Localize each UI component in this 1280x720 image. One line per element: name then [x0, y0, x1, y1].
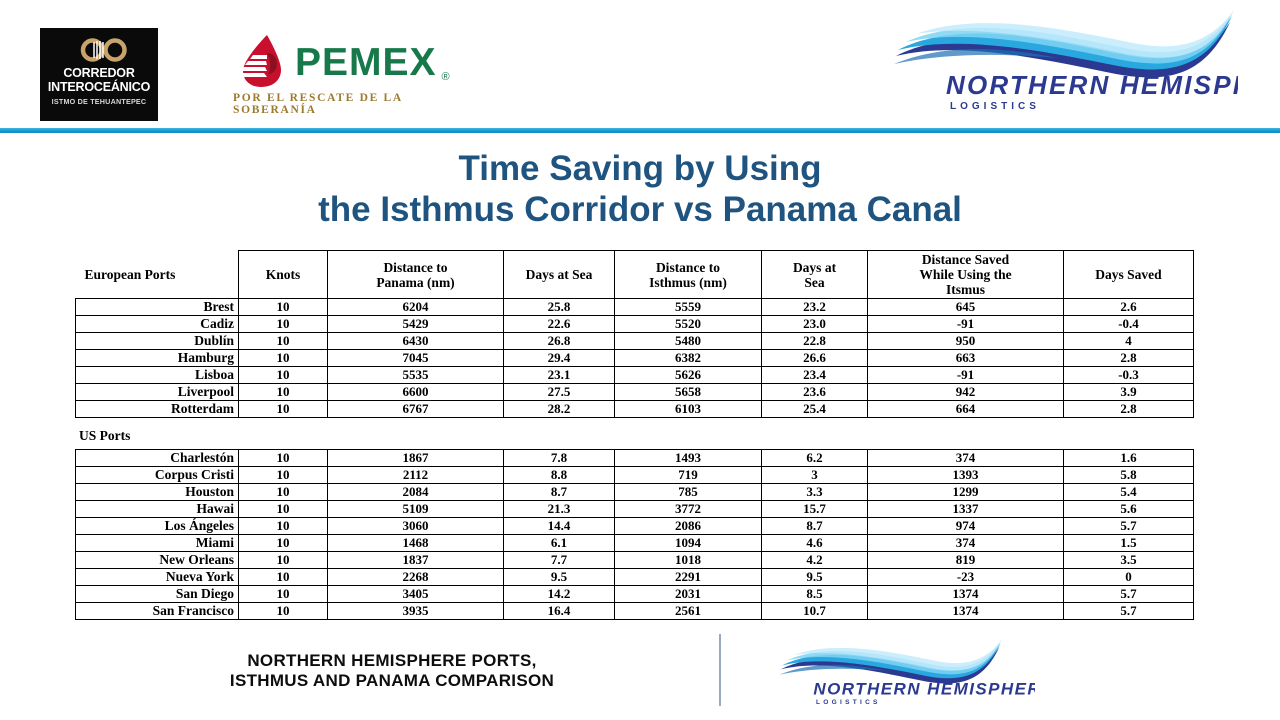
cell-value: 1018	[615, 552, 762, 569]
cell-value: 10	[239, 603, 328, 620]
cell-value: 3	[762, 467, 868, 484]
cell-value: 26.6	[762, 350, 868, 367]
cell-value: 785	[615, 484, 762, 501]
table-row: Nueva York1022689.522919.5-230	[76, 569, 1194, 586]
cell-value: -0.3	[1064, 367, 1194, 384]
page-title-line2: the Isthmus Corridor vs Panama Canal	[0, 189, 1280, 230]
cell-value: 10	[239, 316, 328, 333]
cell-value: 27.5	[504, 384, 615, 401]
cell-value: 10	[239, 518, 328, 535]
cell-value: 26.8	[504, 333, 615, 350]
cell-value: 5.7	[1064, 586, 1194, 603]
cell-value: 3.3	[762, 484, 868, 501]
cell-value: 23.0	[762, 316, 868, 333]
cell-value: 6.1	[504, 535, 615, 552]
table-row: Liverpool10660027.5565823.69423.9	[76, 384, 1194, 401]
cell-value: 6382	[615, 350, 762, 367]
cell-value: 1299	[868, 484, 1064, 501]
cell-value: 21.3	[504, 501, 615, 518]
cell-value: 1.6	[1064, 450, 1194, 467]
table-row: Dublín10643026.8548022.89504	[76, 333, 1194, 350]
corredor-logo-line3: ISTMO DE TEHUANTEPEC	[52, 97, 147, 106]
cell-port-name: Hawai	[76, 501, 239, 518]
cell-value: 10	[239, 350, 328, 367]
cell-value: 819	[868, 552, 1064, 569]
cell-value: 663	[868, 350, 1064, 367]
page-title: Time Saving by Using the Isthmus Corrido…	[0, 148, 1280, 230]
corredor-logo-line2: INTEROCEÁNICO	[48, 81, 150, 95]
cell-value: 3060	[328, 518, 504, 535]
cell-port-name: Brest	[76, 299, 239, 316]
table-row: Hawai10510921.3377215.713375.6	[76, 501, 1194, 518]
cell-value: 2291	[615, 569, 762, 586]
us-ports-table-wrapper: Charlestón1018677.814936.23741.6Corpus C…	[75, 449, 1193, 620]
table-row: Corpus Cristi1021128.8719313935.8	[76, 467, 1194, 484]
cell-value: 10	[239, 333, 328, 350]
cell-value: 5.8	[1064, 467, 1194, 484]
cell-value: 10	[239, 535, 328, 552]
cell-value: 10	[239, 484, 328, 501]
cell-value: 6.2	[762, 450, 868, 467]
cell-value: -91	[868, 316, 1064, 333]
cell-value: 14.4	[504, 518, 615, 535]
us-ports-table: Charlestón1018677.814936.23741.6Corpus C…	[75, 449, 1194, 620]
pemex-registered-mark: ®	[442, 71, 450, 89]
column-header-distance-isthmus: Distance toIsthmus (nm)	[615, 251, 762, 299]
cell-value: 10	[239, 586, 328, 603]
cell-value: 6204	[328, 299, 504, 316]
cell-value: 2561	[615, 603, 762, 620]
cell-value: 5429	[328, 316, 504, 333]
cell-value: 23.4	[762, 367, 868, 384]
table-header-row: European Ports Knots Distance toPanama (…	[76, 251, 1194, 299]
cell-value: 374	[868, 450, 1064, 467]
cell-value: 15.7	[762, 501, 868, 518]
cell-port-name: Nueva York	[76, 569, 239, 586]
slide-header: CORREDOR INTEROCEÁNICO ISTMO DE TEHUANTE…	[0, 0, 1280, 128]
table-row: Los Ángeles10306014.420868.79745.7	[76, 518, 1194, 535]
cell-value: 22.6	[504, 316, 615, 333]
svg-text:NORTHERN HEMISPHERE: NORTHERN HEMISPHERE	[813, 679, 1035, 698]
cell-value: 3935	[328, 603, 504, 620]
cell-value: 10	[239, 569, 328, 586]
cell-port-name: Rotterdam	[76, 401, 239, 418]
column-header-knots: Knots	[239, 251, 328, 299]
cell-value: 3.5	[1064, 552, 1194, 569]
cell-value: 23.6	[762, 384, 868, 401]
cell-value: 8.7	[504, 484, 615, 501]
cell-value: 25.8	[504, 299, 615, 316]
corredor-infinity-mark-icon	[69, 37, 129, 63]
cell-value: 1468	[328, 535, 504, 552]
cell-value: 10	[239, 367, 328, 384]
cell-value: 9.5	[504, 569, 615, 586]
footer-divider	[719, 634, 721, 706]
swoosh-waves-icon: NORTHERN HEMISPHERE LOGISTICS	[745, 697, 1035, 714]
cell-value: 4	[1064, 333, 1194, 350]
cell-value: 664	[868, 401, 1064, 418]
cell-value: -91	[868, 367, 1064, 384]
cell-value: 2084	[328, 484, 504, 501]
svg-text:LOGISTICS: LOGISTICS	[950, 101, 1040, 112]
cell-value: 7045	[328, 350, 504, 367]
cell-value: 1094	[615, 535, 762, 552]
cell-value: 23.2	[762, 299, 868, 316]
table-header: European Ports Knots Distance toPanama (…	[76, 251, 1194, 299]
pemex-tagline: POR EL RESCATE DE LA SOBERANÍA	[233, 92, 465, 116]
table-row: San Diego10340514.220318.513745.7	[76, 586, 1194, 603]
cell-value: 8.8	[504, 467, 615, 484]
cell-value: 1867	[328, 450, 504, 467]
cell-value: 28.2	[504, 401, 615, 418]
cell-value: 719	[615, 467, 762, 484]
cell-value: 9.5	[762, 569, 868, 586]
cell-value: 2268	[328, 569, 504, 586]
european-ports-table-wrapper: European Ports Knots Distance toPanama (…	[75, 250, 1193, 418]
cell-value: 25.4	[762, 401, 868, 418]
column-header-european-ports: European Ports	[76, 251, 239, 299]
table-row: Lisboa10553523.1562623.4-91-0.3	[76, 367, 1194, 384]
cell-port-name: Cadiz	[76, 316, 239, 333]
cell-port-name: Charlestón	[76, 450, 239, 467]
cell-value: 3772	[615, 501, 762, 518]
cell-port-name: Miami	[76, 535, 239, 552]
table-row: Rotterdam10676728.2610325.46642.8	[76, 401, 1194, 418]
cell-value: 3.9	[1064, 384, 1194, 401]
footer-caption-line2: ISTHMUS AND PANAMA COMPARISON	[152, 671, 632, 691]
cell-value: 942	[868, 384, 1064, 401]
pemex-logo: PEMEX ® POR EL RESCATE DE LA SOBERANÍA	[233, 37, 465, 115]
corredor-interoceanico-logo: CORREDOR INTEROCEÁNICO ISTMO DE TEHUANTE…	[40, 28, 158, 121]
svg-text:LOGISTICS: LOGISTICS	[816, 699, 881, 706]
table-row: Cadiz10542922.6552023.0-91-0.4	[76, 316, 1194, 333]
cell-port-name: San Francisco	[76, 603, 239, 620]
northern-hemisphere-logo-header: NORTHERN HEMISPHERE LOGISTICS	[888, 8, 1238, 118]
footer-caption: NORTHERN HEMISPHERE PORTS, ISTHMUS AND P…	[152, 651, 632, 690]
cell-port-name: Houston	[76, 484, 239, 501]
swoosh-waves-icon: NORTHERN HEMISPHERE LOGISTICS	[888, 105, 1238, 122]
european-ports-table-body: Brest10620425.8555923.26452.6Cadiz105429…	[76, 299, 1194, 418]
pemex-wordmark: PEMEX	[295, 43, 437, 83]
cell-value: 5535	[328, 367, 504, 384]
cell-port-name: Hamburg	[76, 350, 239, 367]
table-row: Charlestón1018677.814936.23741.6	[76, 450, 1194, 467]
table-row: San Francisco10393516.4256110.713745.7	[76, 603, 1194, 620]
cell-value: 5.4	[1064, 484, 1194, 501]
cell-value: 22.8	[762, 333, 868, 350]
cell-value: 4.2	[762, 552, 868, 569]
cell-value: 1393	[868, 467, 1064, 484]
cell-value: 8.5	[762, 586, 868, 603]
table-row: Brest10620425.8555923.26452.6	[76, 299, 1194, 316]
cell-value: 6767	[328, 401, 504, 418]
cell-value: 0	[1064, 569, 1194, 586]
cell-port-name: Corpus Cristi	[76, 467, 239, 484]
us-ports-table-body: Charlestón1018677.814936.23741.6Corpus C…	[76, 450, 1194, 620]
cell-value: 1.5	[1064, 535, 1194, 552]
cell-port-name: San Diego	[76, 586, 239, 603]
cell-value: 4.6	[762, 535, 868, 552]
cell-value: 1374	[868, 586, 1064, 603]
cell-value: 5480	[615, 333, 762, 350]
column-header-distance-panama: Distance toPanama (nm)	[328, 251, 504, 299]
pemex-eagle-droplet-icon	[233, 33, 295, 94]
cell-port-name: New Orleans	[76, 552, 239, 569]
cell-value: 8.7	[762, 518, 868, 535]
cell-value: 7.8	[504, 450, 615, 467]
cell-value: 10.7	[762, 603, 868, 620]
cell-value: 23.1	[504, 367, 615, 384]
cell-value: 5658	[615, 384, 762, 401]
table-row: Hamburg10704529.4638226.66632.8	[76, 350, 1194, 367]
cell-value: -0.4	[1064, 316, 1194, 333]
cell-value: 2.6	[1064, 299, 1194, 316]
cell-value: 10	[239, 384, 328, 401]
table-row: New Orleans1018377.710184.28193.5	[76, 552, 1194, 569]
cell-value: 1337	[868, 501, 1064, 518]
cell-value: 10	[239, 401, 328, 418]
cell-value: 974	[868, 518, 1064, 535]
cell-value: 7.7	[504, 552, 615, 569]
cell-value: 5559	[615, 299, 762, 316]
cell-port-name: Los Ángeles	[76, 518, 239, 535]
cell-value: 2031	[615, 586, 762, 603]
cell-value: 5.7	[1064, 603, 1194, 620]
cell-value: 10	[239, 450, 328, 467]
cell-port-name: Lisboa	[76, 367, 239, 384]
cell-value: 5.7	[1064, 518, 1194, 535]
cell-port-name: Liverpool	[76, 384, 239, 401]
cell-value: 10	[239, 467, 328, 484]
cell-value: 2112	[328, 467, 504, 484]
cell-value: 16.4	[504, 603, 615, 620]
cell-value: 29.4	[504, 350, 615, 367]
cell-value: 5.6	[1064, 501, 1194, 518]
column-header-days-at-sea-panama: Days at Sea	[504, 251, 615, 299]
cell-value: 950	[868, 333, 1064, 350]
cell-port-name: Dublín	[76, 333, 239, 350]
column-header-days-saved: Days Saved	[1064, 251, 1194, 299]
header-divider-rule	[0, 128, 1280, 133]
cell-value: 1493	[615, 450, 762, 467]
cell-value: 6430	[328, 333, 504, 350]
cell-value: 2086	[615, 518, 762, 535]
cell-value: -23	[868, 569, 1064, 586]
page-title-line1: Time Saving by Using	[0, 148, 1280, 189]
cell-value: 10	[239, 552, 328, 569]
footer-caption-line1: NORTHERN HEMISPHERE PORTS,	[152, 651, 632, 671]
northern-hemisphere-logo-footer: NORTHERN HEMISPHERE LOGISTICS	[745, 638, 1035, 710]
table-row: Miami1014686.110944.63741.5	[76, 535, 1194, 552]
cell-value: 1837	[328, 552, 504, 569]
cell-value: 6103	[615, 401, 762, 418]
cell-value: 5520	[615, 316, 762, 333]
column-header-days-at-sea-isthmus: Days atSea	[762, 251, 868, 299]
european-ports-table: European Ports Knots Distance toPanama (…	[75, 250, 1194, 418]
cell-value: 5626	[615, 367, 762, 384]
slide: CORREDOR INTEROCEÁNICO ISTMO DE TEHUANTE…	[0, 0, 1280, 720]
cell-value: 10	[239, 299, 328, 316]
column-header-distance-saved: Distance SavedWhile Using theItsmus	[868, 251, 1064, 299]
cell-value: 1374	[868, 603, 1064, 620]
svg-text:NORTHERN HEMISPHERE: NORTHERN HEMISPHERE	[946, 70, 1238, 100]
cell-value: 2.8	[1064, 350, 1194, 367]
table-row: Houston1020848.77853.312995.4	[76, 484, 1194, 501]
us-ports-section-label: US Ports	[79, 428, 130, 444]
corredor-logo-line1: CORREDOR	[63, 67, 134, 81]
cell-value: 374	[868, 535, 1064, 552]
cell-value: 645	[868, 299, 1064, 316]
cell-value: 14.2	[504, 586, 615, 603]
cell-value: 10	[239, 501, 328, 518]
cell-value: 5109	[328, 501, 504, 518]
cell-value: 2.8	[1064, 401, 1194, 418]
cell-value: 6600	[328, 384, 504, 401]
cell-value: 3405	[328, 586, 504, 603]
